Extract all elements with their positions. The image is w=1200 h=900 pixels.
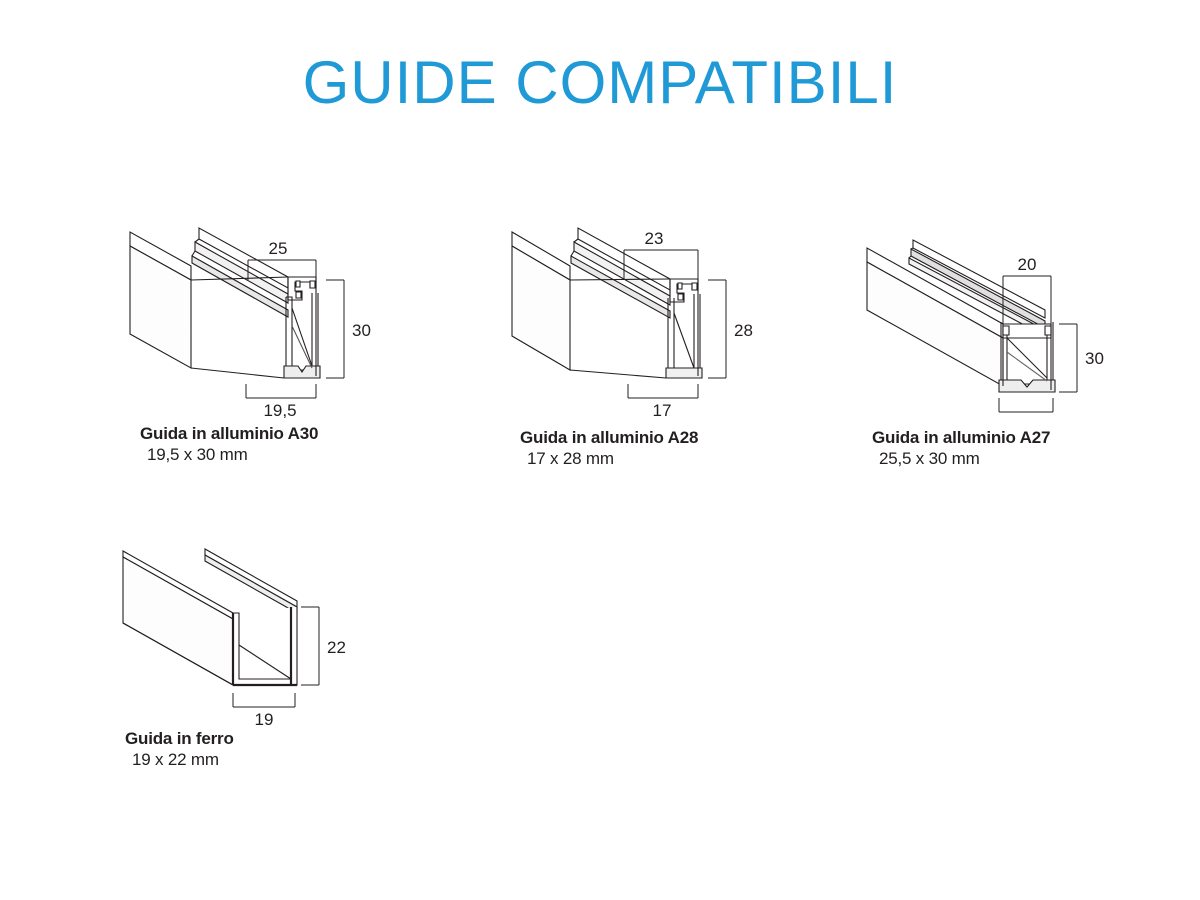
dimension-height-a28	[708, 280, 726, 378]
dimension-value-height-a30: 30	[352, 321, 371, 340]
rail-name-a30: Guida in alluminio A30	[140, 424, 318, 444]
rail-drawing-ferro: 22 19	[105, 535, 435, 735]
rail-caption-ferro: Guida in ferro 19 x 22 mm	[125, 729, 234, 770]
rail-caption-a28: Guida in alluminio A28 17 x 28 mm	[520, 428, 698, 469]
rail-size-ferro: 19 x 22 mm	[125, 749, 234, 770]
dimension-height-ferro	[301, 607, 319, 685]
rail-drawing-a28: 23 28 17	[500, 218, 830, 418]
dimension-value-height-a27: 30	[1085, 349, 1104, 368]
dimension-bottom-width-ferro	[233, 693, 295, 707]
dimension-value-bottom-width-ferro: 19	[255, 710, 274, 729]
dimension-value-top-width-a27: 20	[1018, 255, 1037, 274]
dimension-bottom-width-a30	[246, 384, 316, 398]
dimension-value-top-width-a28: 23	[645, 229, 664, 248]
dimension-value-bottom-width-a27: 25,5	[1009, 415, 1042, 418]
rail-size-a27: 25,5 x 30 mm	[872, 448, 1050, 469]
rail-name-ferro: Guida in ferro	[125, 729, 234, 749]
dimension-height-a27	[1059, 324, 1077, 392]
rail-drawing-a30: 25 30 19,5	[120, 218, 450, 418]
dimension-height-a30	[326, 280, 344, 378]
rail-size-a30: 19,5 x 30 mm	[140, 444, 318, 465]
rail-caption-a30: Guida in alluminio A30 19,5 x 30 mm	[140, 424, 318, 465]
rail-name-a27: Guida in alluminio A27	[872, 428, 1050, 448]
dimension-bottom-width-a28	[628, 384, 698, 398]
dimension-value-height-a28: 28	[734, 321, 753, 340]
dimension-value-bottom-width-a28: 17	[653, 401, 672, 418]
page-title: GUIDE COMPATIBILI	[0, 48, 1200, 117]
rail-drawing-a27: 20 30 25,5	[855, 218, 1185, 418]
dimension-value-top-width-a30: 25	[269, 239, 288, 258]
rail-name-a28: Guida in alluminio A28	[520, 428, 698, 448]
dimension-value-height-ferro: 22	[327, 638, 346, 657]
rail-size-a28: 17 x 28 mm	[520, 448, 698, 469]
rail-caption-a27: Guida in alluminio A27 25,5 x 30 mm	[872, 428, 1050, 469]
dimension-value-bottom-width-a30: 19,5	[263, 401, 296, 418]
dimension-bottom-width-a27	[999, 398, 1053, 412]
